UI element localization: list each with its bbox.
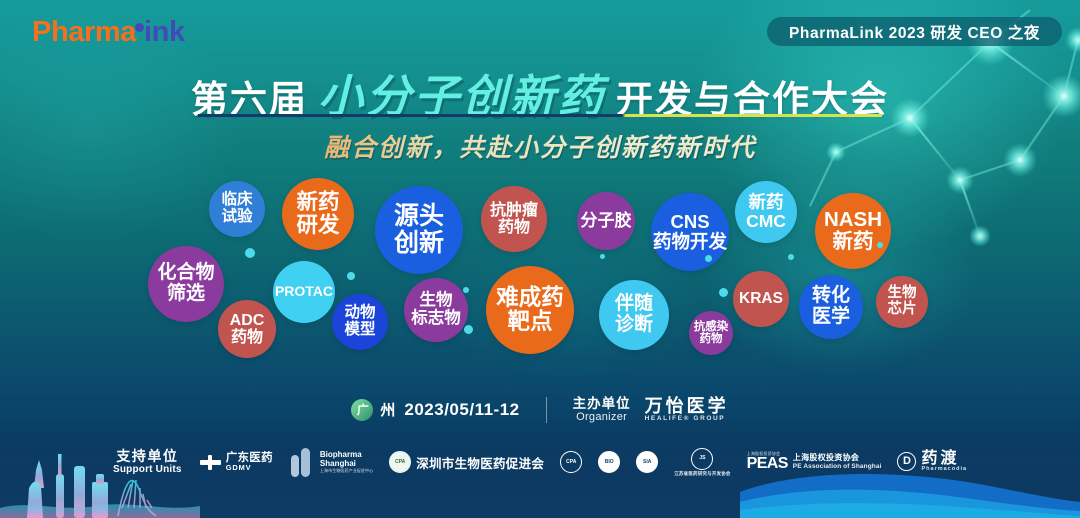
topic-bubble[interactable]: 动物模型 [332,294,388,350]
topic-bubble-label: KRAS [739,291,783,308]
decorative-dot-icon [600,254,605,259]
shenzhen-name: 深圳市生物医药促进会 [416,453,544,472]
topic-bubble-label: 转化 [812,286,850,307]
topic-bubble-label: 伴随 [615,294,653,315]
decorative-dot-icon [877,242,883,248]
topic-bubble-label: 化合物 [157,263,214,284]
decorative-dot-icon [719,288,728,297]
header-pill-label: PharmaLink 2023 研发 CEO 之夜 [789,21,1040,43]
topic-bubble[interactable]: 抗感染药物 [689,311,733,355]
topic-bubble[interactable]: 新药CMC [735,181,797,243]
subtitle: 融合创新，共赴小分子创新药新时代 [0,128,1080,164]
topic-bubble-label: 标志物 [411,310,461,328]
logo-text-pharma: Pharma [32,16,136,48]
supporter-logo-biopharma-shanghai[interactable]: Biopharma Shanghai 上海市生物医药产业促进中心 [289,447,373,477]
medical-cross-icon [200,455,221,470]
jiangsu-caption: 江苏省医药研究与开发协会 [674,471,730,477]
topic-bubble-label: 试验 [221,209,252,226]
supporter-seal-cpa-icon[interactable]: CPA [560,451,582,473]
topic-bubble-label: ADC [230,312,265,329]
topic-bubble-label: 研发 [296,214,339,237]
topic-bubble-label: 药物 [498,219,530,236]
topic-bubble-label: 抗肿瘤 [490,202,538,219]
topic-bubble-label: 靶点 [507,310,552,334]
topic-bubble[interactable]: 难成药靶点 [486,266,574,354]
event-date: 2023/05/11-12 [404,400,519,420]
topic-bubble-label: 创新 [394,230,444,257]
topic-bubble-label: CNS [670,212,709,232]
topic-bubble-label: 新药 [749,193,784,212]
logo-dot-icon [135,23,144,32]
topic-bubble-label: PROTAC [275,284,333,299]
biopharma-text: Biopharma Shanghai 上海市生物医药产业促进中心 [320,451,373,473]
decorative-dot-icon [705,255,712,262]
topic-bubble-label: 临床 [221,192,252,209]
topic-bubble[interactable]: 转化医学 [799,275,863,339]
guangzhou-skyline-decoration [0,408,200,518]
topic-bubble-label: 模型 [344,322,375,339]
topic-bubble-label: 难成药 [496,286,564,310]
topic-bubble[interactable]: PROTAC [273,261,335,323]
building-towers-icon [289,447,315,477]
topic-bubble[interactable]: 源头创新 [375,186,463,274]
pharmalink-logo[interactable]: Pharmaink [32,18,185,47]
event-city: 州 [380,399,396,420]
organizer-name: 万怡医学 HEALIFE® GROUP [645,397,729,423]
topic-bubble-label: 药物 [231,329,263,346]
wave-decoration [740,458,1080,518]
topic-bubble-label: 分子胶 [581,212,632,230]
topic-bubble-label: 新药 [833,231,874,253]
topic-bubble[interactable]: ADC药物 [218,300,276,358]
info-divider [546,397,547,423]
organizer-label-cn: 主办单位 [573,396,631,411]
header-event-pill: PharmaLink 2023 研发 CEO 之夜 [767,17,1062,46]
shenzhen-seal-icon: CPA [389,451,411,473]
decorative-dot-icon [788,254,794,260]
organizer-name-cn: 万怡医学 [645,397,729,416]
logo-text-link: ink [144,16,185,48]
organizer-label-en: Organizer [573,411,631,423]
title-underline-rule [198,114,882,117]
topic-bubble[interactable]: 生物标志物 [404,278,468,342]
topic-bubble[interactable]: CNS药物开发 [651,193,729,271]
topic-bubble[interactable]: 伴随诊断 [599,280,669,350]
city-badge-icon: 广 [351,399,373,421]
supporter-logo-shenzhen[interactable]: CPA 深圳市生物医药促进会 [389,451,544,473]
topic-bubble-label: 源头 [394,203,444,230]
topic-bubble-label: 新药 [296,191,339,214]
supporter-seal-bio-icon[interactable]: BIO [598,451,620,473]
topic-bubble-label: 抗感染 [694,321,729,333]
topic-bubble-label: 动物 [344,305,375,322]
topic-bubble-label: NASH [824,209,882,231]
topic-bubble-cloud: 化合物筛选临床试验ADC药物PROTAC新药研发动物模型源头创新生物标志物抗肿瘤… [0,160,1080,375]
topic-bubble[interactable]: NASH新药 [815,193,891,269]
topic-bubble[interactable]: 临床试验 [209,181,265,237]
topic-bubble-label: 生物 [888,286,917,302]
topic-bubble-label: 生物 [420,292,453,310]
poster-canvas: Pharmaink PharmaLink 2023 研发 CEO 之夜 第六届 … [0,0,1080,518]
peas-mark-tiny: 上海股权投资协会 [747,452,788,456]
topic-bubble-label: 药物 [700,333,723,345]
decorative-dot-icon [245,248,255,258]
supporter-logo-jiangsu[interactable]: JS 江苏省医药研究与开发协会 [674,448,730,477]
decorative-dot-icon [464,325,473,334]
topic-bubble[interactable]: 抗肿瘤药物 [481,186,547,252]
supporter-logo-gdmv[interactable]: 广东医药 GDMV [200,452,273,472]
topic-bubble-label: 药物开发 [653,232,727,252]
topic-bubble-label: 筛选 [167,284,205,305]
biopharma-line3: 上海市生物医药产业促进中心 [320,469,373,473]
jiangsu-seal-icon: JS [691,448,713,470]
decorative-dot-icon [347,272,355,280]
topic-bubble-label: 芯片 [888,302,917,318]
decorative-dot-icon [463,287,469,293]
gdmv-name-en: GDMV [226,464,273,472]
topic-bubble-label: 诊断 [615,315,653,336]
topic-bubble[interactable]: 生物芯片 [876,276,928,328]
topic-bubble[interactable]: 新药研发 [282,178,354,250]
topic-bubble[interactable]: 化合物筛选 [148,246,224,322]
topic-bubble[interactable]: 分子胶 [577,192,635,250]
gdmv-text: 广东医药 GDMV [226,452,273,472]
organizer-name-en: HEALIFE® GROUP [645,416,729,423]
supporter-seal-sia-icon[interactable]: SIA [636,451,658,473]
topic-bubble-label: CMC [746,212,786,231]
topic-bubble-label: 医学 [812,307,850,328]
topic-bubble[interactable]: KRAS [733,271,789,327]
organizer-label: 主办单位 Organizer [573,396,631,423]
